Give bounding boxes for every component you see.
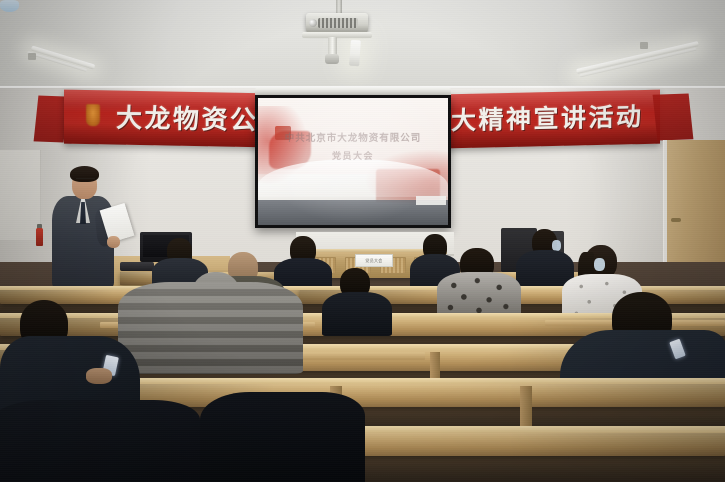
slide-corner-chip (416, 196, 446, 205)
wall-panel-left (0, 150, 41, 240)
projector-drop-stem (328, 37, 337, 55)
audience-hand (86, 368, 112, 384)
tube-clip-right (640, 42, 648, 49)
audience-body-puffer-grey (118, 282, 303, 374)
fluorescent-tube-center-icon (349, 40, 361, 67)
projector-bracket-plate (302, 32, 372, 38)
banner-tail-right (653, 93, 694, 140)
tube-clip-left (28, 53, 36, 60)
puffer-quilting (118, 282, 303, 374)
name-card: 党员大会 (355, 254, 393, 267)
projector-vent (318, 18, 358, 28)
presenter-speaker (0, 0, 19, 12)
face-mask-icon (594, 258, 605, 271)
door-handle-icon[interactable] (671, 218, 681, 222)
audience-body-foreground-left (0, 400, 200, 482)
meeting-room-photo: 大龙物资公司宣 大精神宣讲活动 中共北京市大龙物资有限公司 党员大会 党员大会 (0, 0, 725, 482)
projection-screen-surface: 中共北京市大龙物资有限公司 党员大会 (258, 98, 448, 225)
fire-extinguisher-icon (36, 228, 43, 246)
projector-lens-icon (309, 19, 317, 27)
audience-body-foreground-center (200, 392, 365, 482)
banner-right-segment: 大精神宣讲活动 (445, 90, 660, 149)
presenter-hand (107, 236, 120, 248)
slide-title-text: 中共北京市大龙物资有限公司 (258, 130, 448, 144)
keyboard-icon (120, 262, 154, 271)
banner-right-text: 大精神宣讲活动 (445, 90, 666, 149)
slide-subtitle-text: 党员大会 (258, 149, 448, 162)
projector-drop-cap (325, 54, 339, 64)
audience-body (322, 292, 392, 336)
presenter-glasses-icon (76, 178, 95, 183)
presenter-face-mask-icon (0, 0, 19, 12)
